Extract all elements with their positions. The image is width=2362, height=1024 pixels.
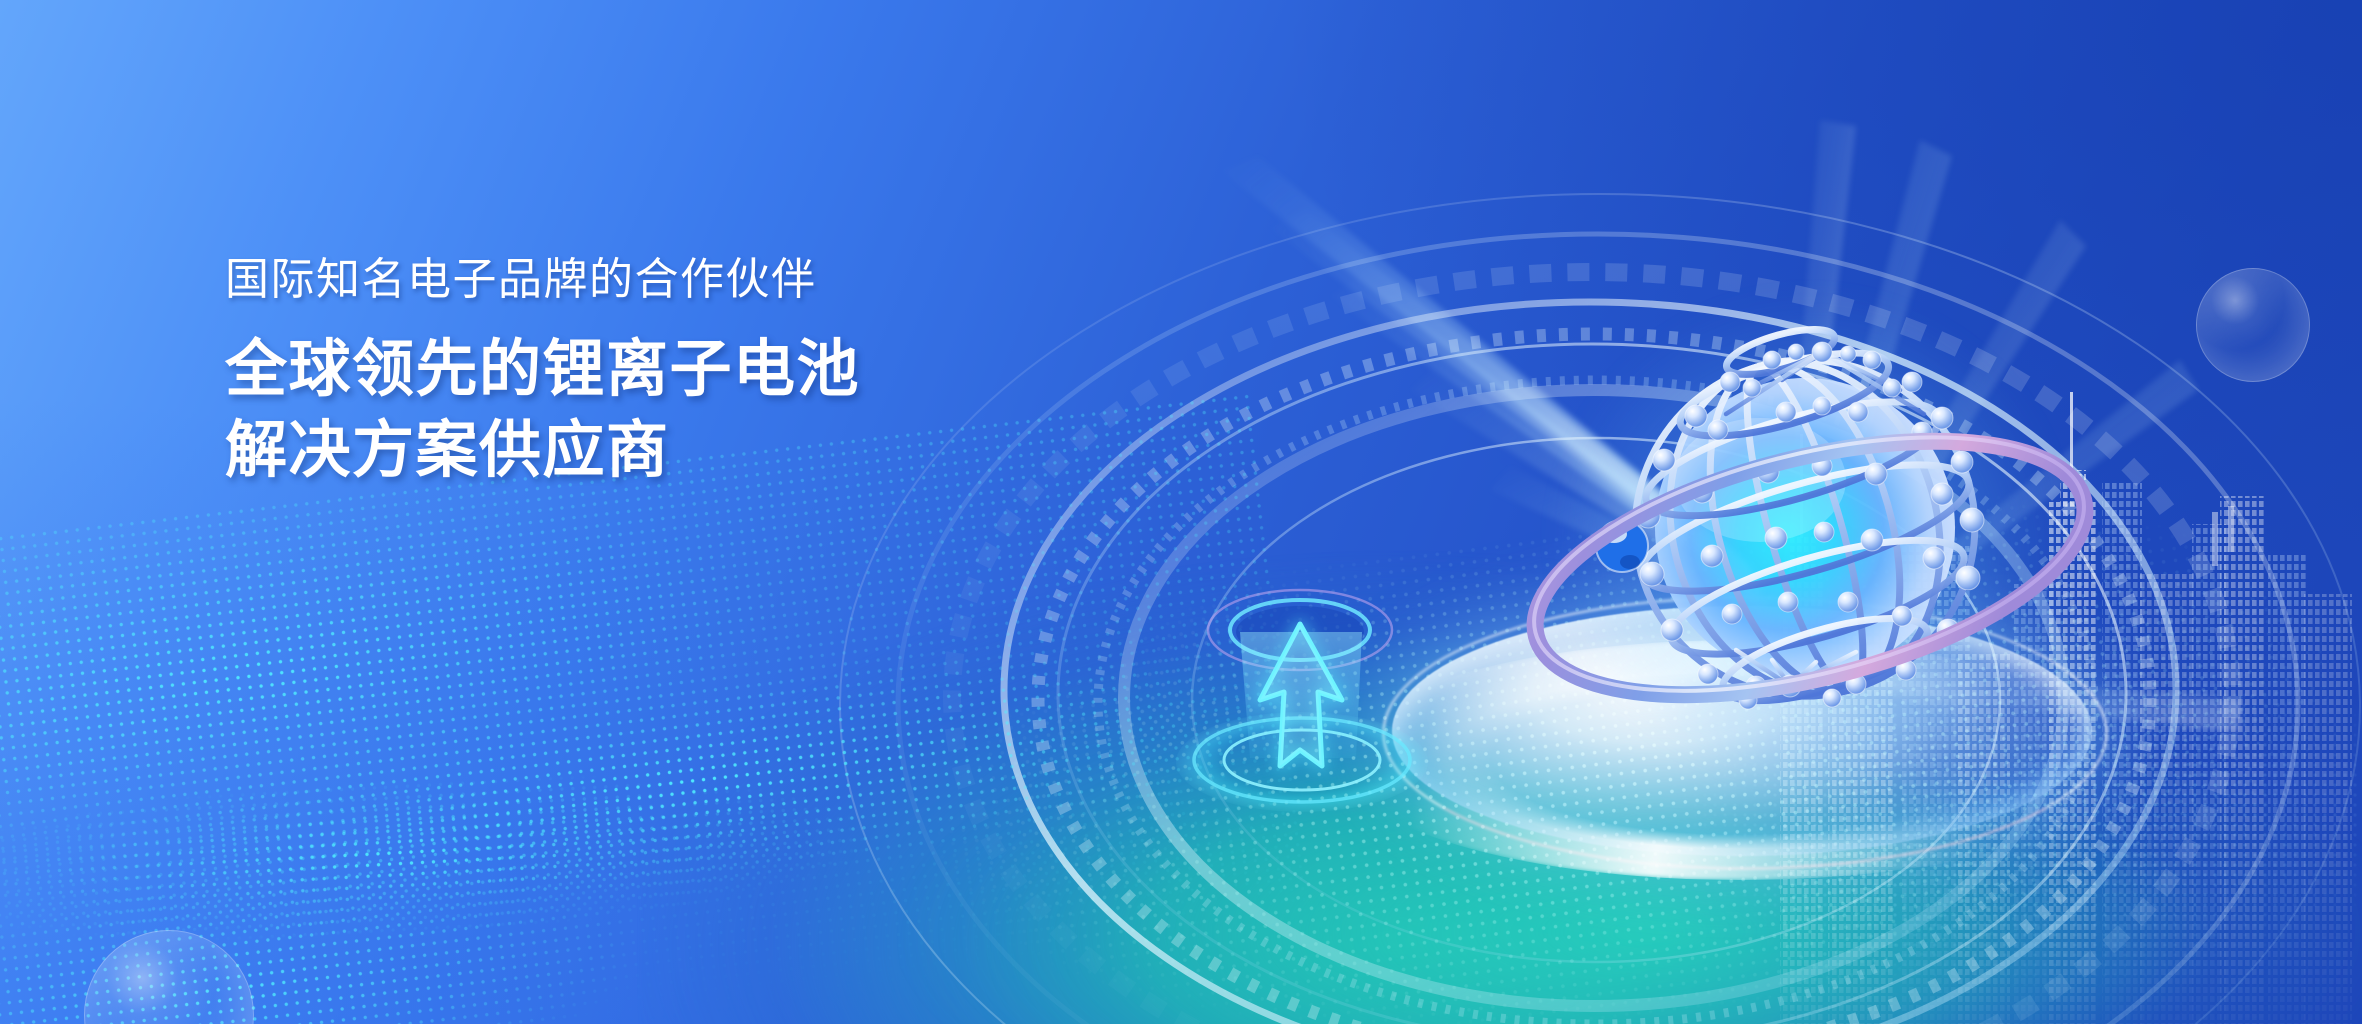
bubble-bottom-left [84, 930, 254, 1024]
banner-headline: 全球领先的锂离子电池 解决方案供应商 [225, 330, 1125, 491]
banner-headline-line2: 解决方案供应商 [225, 411, 1125, 492]
banner-eyebrow: 国际知名电子品牌的合作伙伴 [225, 252, 1125, 308]
banner-copy: 国际知名电子品牌的合作伙伴 全球领先的锂离子电池 解决方案供应商 [225, 252, 1125, 492]
hero-banner: 国际知名电子品牌的合作伙伴 全球领先的锂离子电池 解决方案供应商 [0, 0, 2362, 1024]
bubble-top-right [2196, 268, 2310, 382]
globe-icon [1600, 330, 2020, 730]
banner-headline-line1: 全球领先的锂离子电池 [225, 330, 1125, 411]
